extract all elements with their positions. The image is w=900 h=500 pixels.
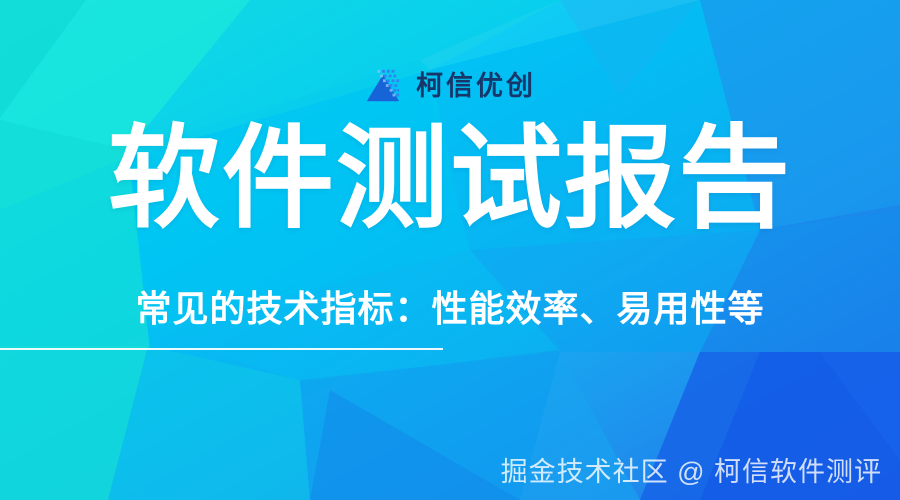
logo-lockup: 柯信优创 (0, 62, 900, 110)
page-subtitle: 常见的技术指标：性能效率、易用性等 (0, 289, 900, 329)
watermark-credit: 掘金技术社区 @ 柯信软件测评 (501, 456, 882, 488)
article-cover-banner: 柯信优创 软件测试报告 常见的技术指标：性能效率、易用性等 掘金技术社区 @ 柯… (0, 0, 900, 500)
page-title: 软件测试报告 (0, 122, 900, 236)
logo-wordmark: 柯信优创 (416, 73, 536, 100)
divider-rule (0, 348, 443, 350)
pixel-triangle-mountain-icon (364, 67, 402, 105)
